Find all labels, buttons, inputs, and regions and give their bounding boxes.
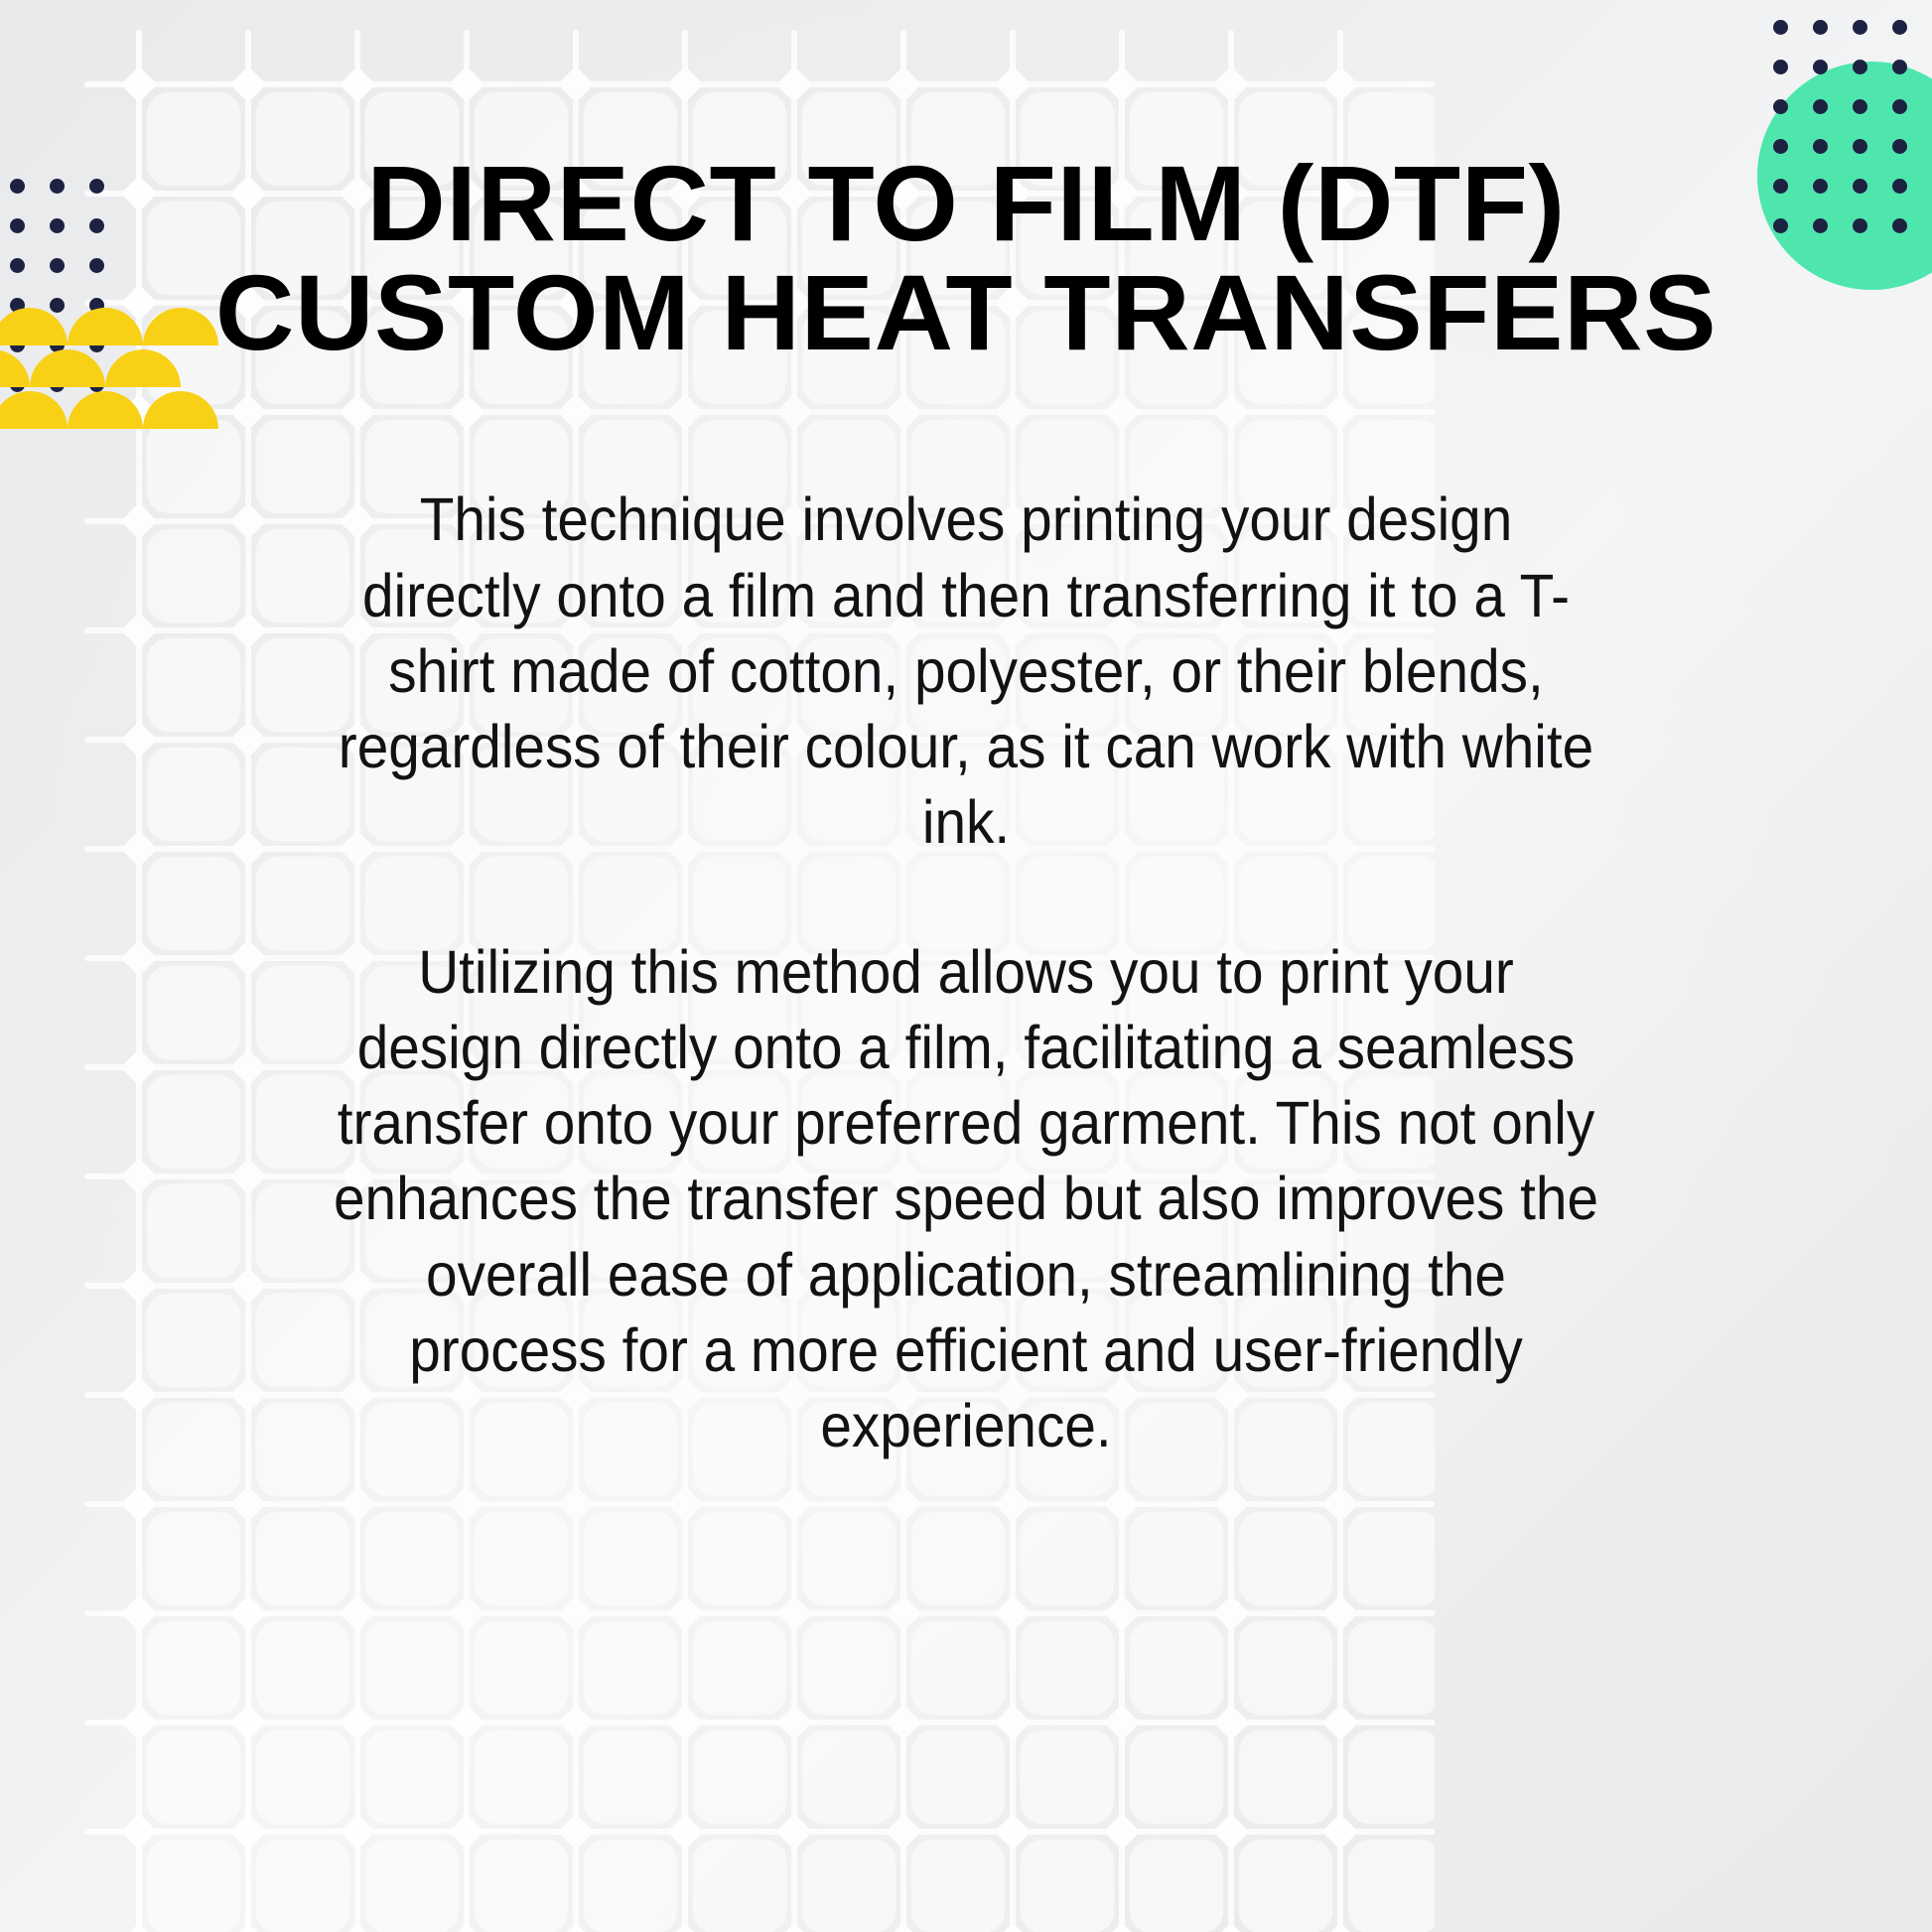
title-line-1: DIRECT TO FILM (DTF): [366, 143, 1566, 263]
paragraph-1: This technique involves printing your de…: [329, 482, 1602, 860]
title-line-2: CUSTOM HEAT TRANSFERS: [215, 252, 1717, 372]
body-text-block: This technique involves printing your de…: [329, 482, 1602, 1463]
page-title: DIRECT TO FILM (DTF) CUSTOM HEAT TRANSFE…: [207, 149, 1725, 367]
paragraph-spacer: [329, 861, 1602, 934]
poster-content: DIRECT TO FILM (DTF) CUSTOM HEAT TRANSFE…: [0, 0, 1932, 1932]
paragraph-2: Utilizing this method allows you to prin…: [329, 934, 1602, 1464]
poster-canvas: DIRECT TO FILM (DTF) CUSTOM HEAT TRANSFE…: [0, 0, 1932, 1932]
